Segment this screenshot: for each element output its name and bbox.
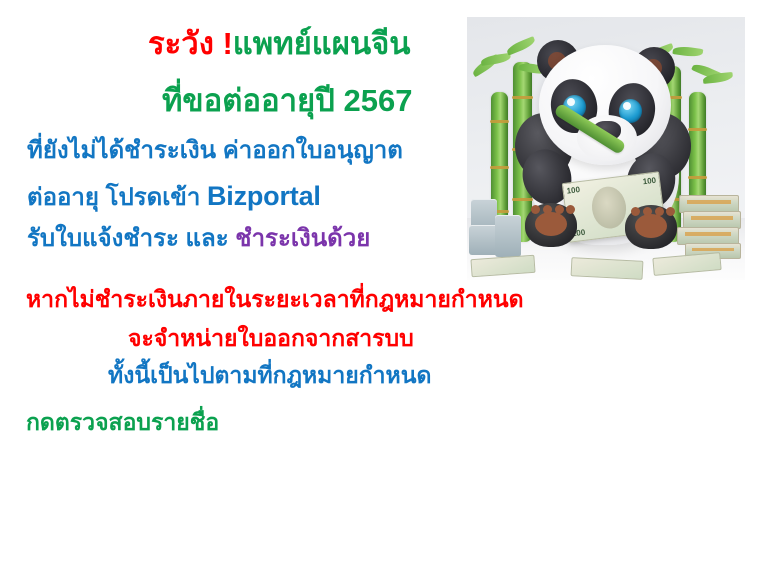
panda-foot-left	[525, 203, 577, 247]
body-line-3-prefix: รับใบแจ้งชำระ และ	[27, 225, 229, 252]
bill-denomination: 100	[566, 185, 580, 196]
body-line-3-emphasis: ชำระเงินด้วย	[235, 225, 370, 252]
headline-warning-word: ระวัง !	[148, 26, 233, 61]
body-line-3: รับใบแจ้งชำระ และ ชำระเงินด้วย	[27, 227, 370, 251]
bamboo-leaf-icon	[672, 45, 703, 58]
announcement-slide: ระวัง !แพทย์แผนจีน ที่ขอต่ออายุปี 2567 ท…	[0, 0, 768, 579]
body-line-2: ต่ออายุ โปรดเข้า Bizportal	[27, 183, 321, 210]
illustration-scene: 100 100 100 100	[467, 17, 745, 280]
bill-portrait	[590, 185, 629, 231]
body-line-2-prefix: ต่ออายุ โปรดเข้า	[27, 184, 200, 211]
warning-line-2: จะจำหน่ายใบออกจากสารบบ	[128, 327, 414, 350]
panda-with-money-illustration: 100 100 100 100	[467, 17, 745, 280]
loose-banknote-icon	[571, 257, 644, 280]
warning-line-1: หากไม่ชำระเงินภายในระยะเวลาที่กฎหมายกำหน…	[26, 288, 524, 311]
headline-line-2: ที่ขอต่ออายุปี 2567	[162, 85, 412, 116]
bizportal-link[interactable]: Bizportal	[207, 181, 321, 211]
bamboo-leaf-icon	[480, 53, 511, 66]
panda-foot-right	[625, 205, 677, 249]
headline-subject: แพทย์แผนจีน	[233, 26, 411, 61]
coin-stack-icon	[495, 215, 521, 257]
check-name-list-link[interactable]: กดตรวจสอบรายชื่อ	[26, 411, 219, 434]
body-line-1: ที่ยังไม่ได้ชำระเงิน ค่าออกใบอนุญาต	[27, 139, 403, 163]
bill-denomination: 100	[642, 176, 656, 187]
headline-line-1: ระวัง !แพทย์แผนจีน	[148, 28, 411, 59]
bamboo-leaf-icon	[505, 36, 536, 56]
warning-line-3: ทั้งนี้เป็นไปตามที่กฎหมายกำหนด	[108, 364, 431, 387]
